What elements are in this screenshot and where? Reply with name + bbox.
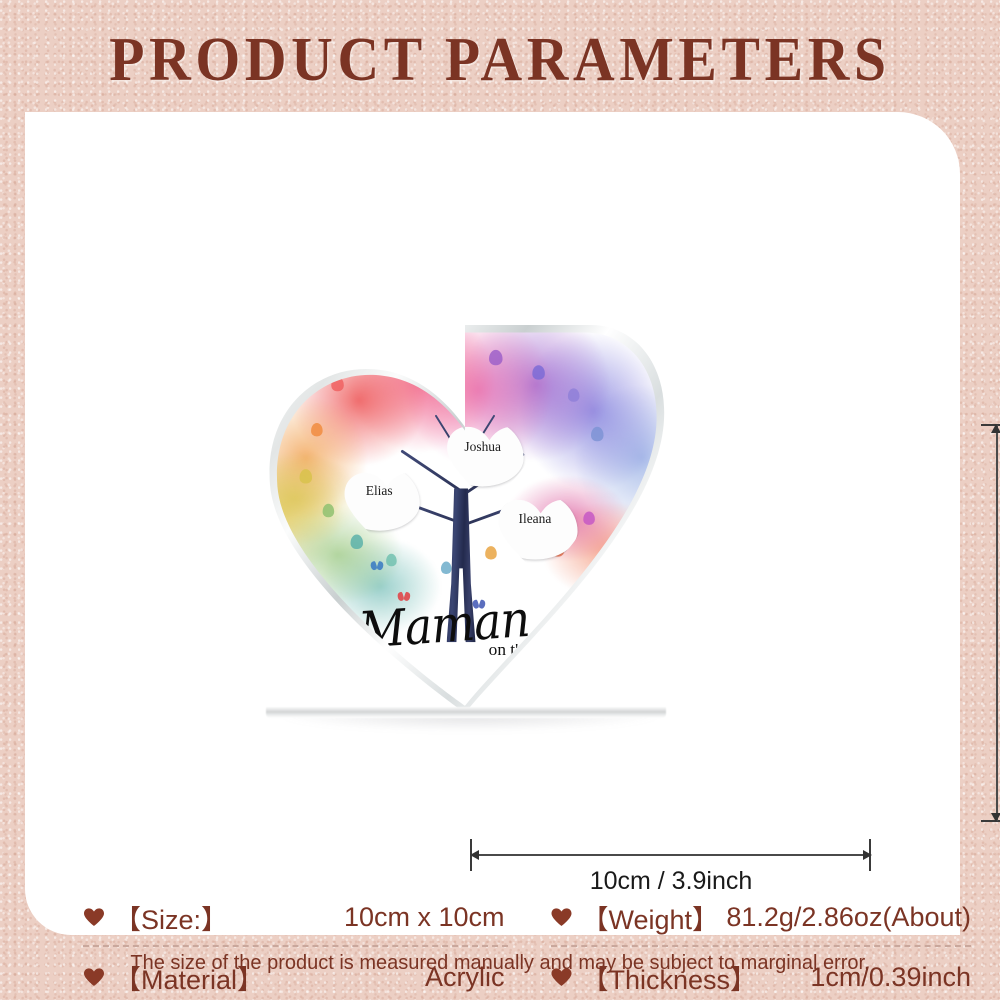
plaque-base (266, 707, 666, 718)
spec-label-weight-text: 【Weight】 (582, 898, 720, 937)
spec-label-weight: 【Weight】 (551, 898, 720, 937)
spec-column-right: 【Weight】 81.2g/2.86oz(About) 【Thickness】… (518, 887, 986, 1000)
spec-column-left: 【Size:】 10cm x 10cm 【Material】 Acrylic (50, 887, 518, 1000)
leaf (489, 350, 502, 365)
name-heart-label: Joshua (464, 440, 501, 465)
heart-bullet-icon (551, 907, 573, 927)
spec-label-size-text: 【Size:】 (114, 898, 228, 937)
leaf (568, 388, 580, 401)
butterfly-icon (370, 561, 383, 570)
page-title: PRODUCT PARAMETERS (35, 27, 965, 93)
leaf (311, 423, 323, 436)
leaf (351, 535, 364, 549)
leaf (362, 358, 373, 371)
spec-value-size: 10cm x 10cm (344, 902, 508, 933)
name-heart-label: Ileana (518, 512, 551, 539)
acrylic-heart-plaque: Joshua Elias Ileana Maman, on t'aime (260, 315, 670, 715)
product-image: Joshua Elias Ileana Maman, on t'aime 10c… (230, 207, 870, 787)
spec-row-weight: 【Weight】 81.2g/2.86oz(About) (551, 887, 972, 947)
footer-disclaimer: The size of the product is measured manu… (0, 952, 1000, 975)
leaf (441, 561, 452, 574)
leaf (583, 511, 595, 524)
spec-row-size: 【Size:】 10cm x 10cm (83, 887, 508, 947)
heart-bullet-icon (83, 907, 105, 927)
leaf (532, 365, 545, 379)
leaf (591, 427, 604, 441)
dimension-line-horizontal (471, 854, 871, 856)
spec-label-size: 【Size:】 (83, 898, 228, 937)
leaf (398, 346, 411, 361)
leaf (445, 342, 457, 355)
leaf (386, 554, 397, 567)
spec-table: 【Size:】 10cm x 10cm 【Material】 Acrylic 【… (50, 887, 985, 1000)
leaf (485, 546, 497, 559)
content-card: Joshua Elias Ileana Maman, on t'aime 10c… (25, 112, 960, 935)
dimension-line-vertical (996, 425, 998, 821)
leaf (323, 504, 335, 517)
name-heart-label: Elias (366, 485, 393, 512)
spec-value-weight: 81.2g/2.86oz(About) (726, 902, 971, 933)
leaf (299, 469, 312, 483)
